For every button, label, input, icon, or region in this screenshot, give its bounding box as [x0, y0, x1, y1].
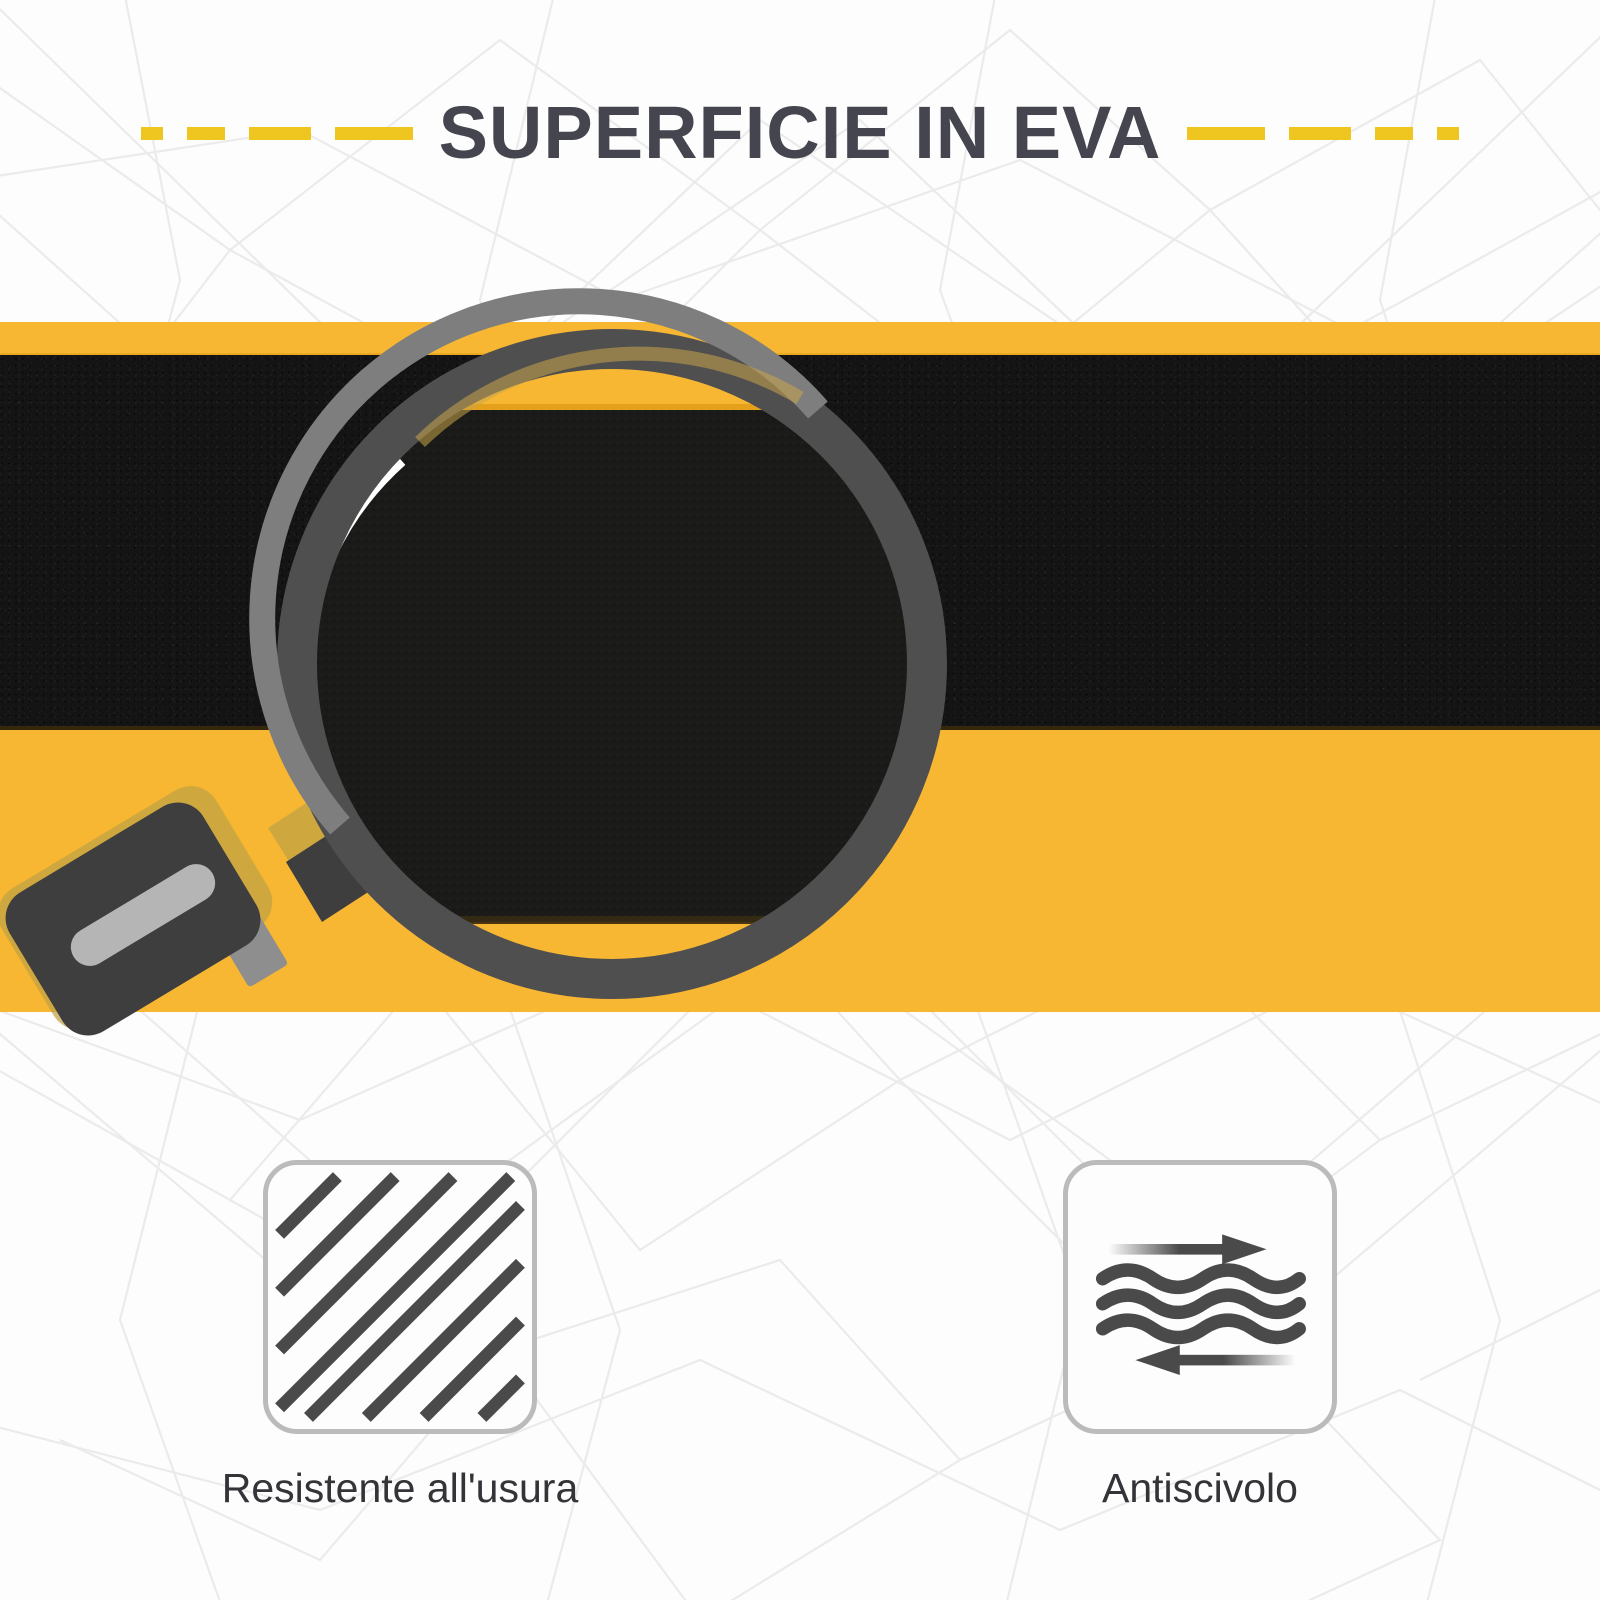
product-black-eva-surface	[0, 355, 1600, 730]
title-dashes-right	[1187, 78, 1459, 188]
feature-list: Resistente all'usura	[0, 1160, 1600, 1509]
arrow-left-icon	[1135, 1345, 1295, 1375]
feature-label: Antiscivolo	[1102, 1468, 1298, 1509]
wave-lines	[1103, 1270, 1300, 1337]
dash	[335, 127, 413, 140]
diagonal-hatch-icon	[263, 1160, 537, 1434]
product-photo-eva-strip	[0, 322, 1600, 1012]
feature-wear-resistant: Resistente all'usura	[0, 1160, 800, 1509]
arrow-right-icon	[1108, 1234, 1266, 1264]
dash	[187, 127, 225, 140]
feature-anti-slip: Antiscivolo	[800, 1160, 1600, 1509]
page-title: SUPERFICIE IN EVA	[413, 96, 1188, 170]
anti-slip-waves-icon	[1063, 1160, 1337, 1434]
dash	[1437, 127, 1459, 140]
dash	[1187, 127, 1265, 140]
title-row: SUPERFICIE IN EVA	[0, 78, 1600, 188]
dash	[1289, 127, 1351, 140]
product-yellow-base	[0, 730, 1600, 1012]
dash	[1375, 127, 1413, 140]
dash	[141, 127, 163, 140]
dash	[249, 127, 311, 140]
title-dashes-left	[141, 78, 413, 188]
infographic-canvas: SUPERFICIE IN EVA	[0, 0, 1600, 1600]
feature-label: Resistente all'usura	[222, 1468, 579, 1509]
product-yellow-top-edge	[0, 322, 1600, 358]
